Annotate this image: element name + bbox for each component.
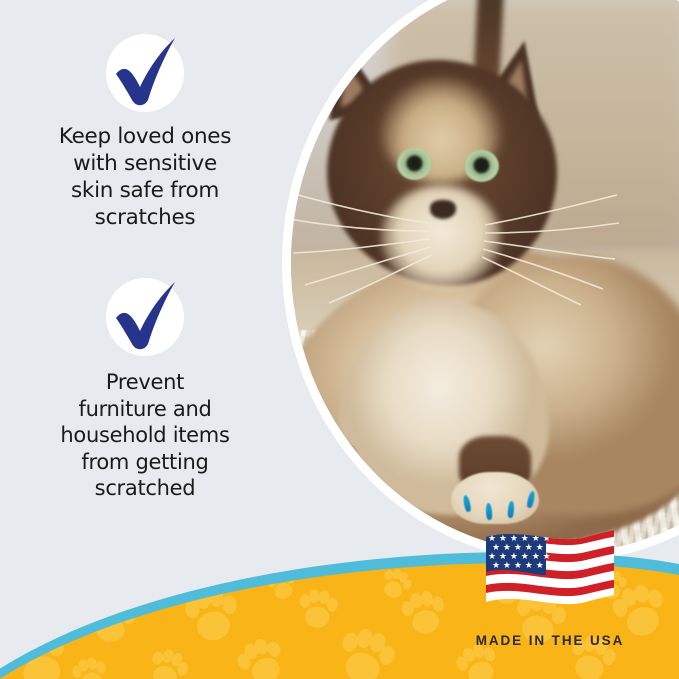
checkmark-badge-1	[106, 34, 184, 112]
made-in-usa-badge: ★ ★ ★ ★ ★ ★ ★ ★ ★ ★ ★ ★ ★ ★ ★ ★ ★ ★ ★ ★ …	[455, 527, 645, 648]
product-benefits-graphic: Keep loved ones with sensitive skin safe…	[0, 0, 679, 679]
benefit-text-1: Keep loved ones with sensitive skin safe…	[0, 123, 290, 231]
cat-paw-left	[291, 472, 364, 522]
checkmark-icon	[102, 28, 190, 116]
checkmark-badge-2	[106, 278, 184, 356]
benefit-item-2: Prevent furniture and household items fr…	[0, 278, 290, 502]
us-flag-icon: ★ ★ ★ ★ ★ ★ ★ ★ ★ ★ ★ ★ ★ ★ ★ ★ ★ ★ ★ ★ …	[482, 527, 618, 619]
cat-whiskers	[291, 175, 619, 310]
benefit-text-2: Prevent furniture and household items fr…	[0, 369, 290, 502]
benefits-panel: Keep loved ones with sensitive skin safe…	[0, 0, 290, 560]
cat-photo-circle-frame	[282, 0, 679, 562]
svg-text:★ ★ ★ ★ ★: ★ ★ ★ ★ ★	[492, 561, 544, 571]
made-in-usa-caption: MADE IN THE USA	[455, 633, 645, 648]
checkmark-icon	[102, 272, 190, 360]
benefit-item-1: Keep loved ones with sensitive skin safe…	[0, 34, 290, 231]
cat-photo	[291, 0, 679, 553]
